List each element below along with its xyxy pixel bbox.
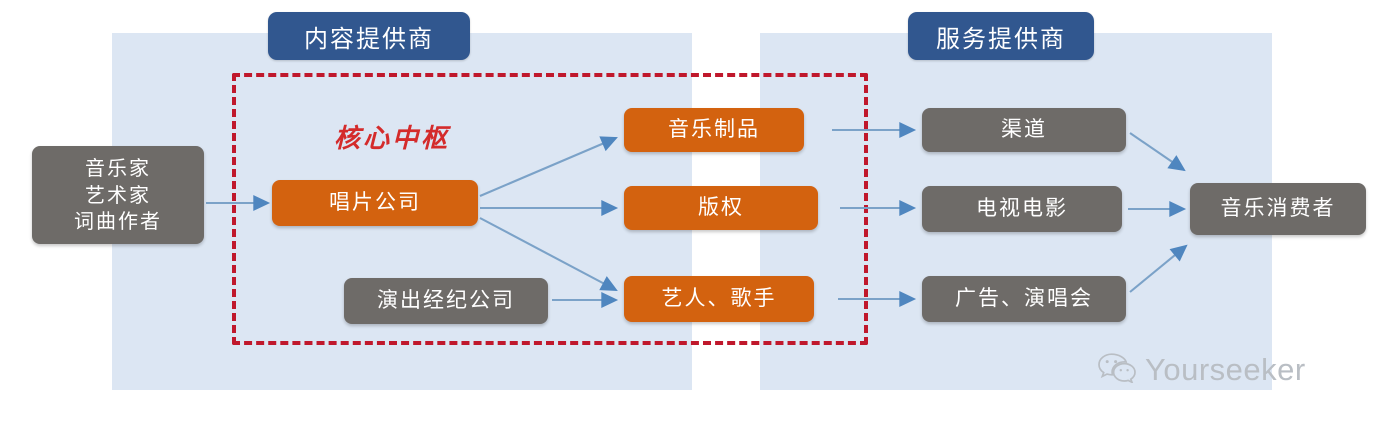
- node-artists-singers: 艺人、歌手: [624, 276, 814, 322]
- node-creators-line-2: 艺术家: [85, 182, 151, 208]
- core-hub-label: 核心中枢: [334, 118, 450, 155]
- node-performance-agency: 演出经纪公司: [344, 278, 548, 324]
- node-music-products: 音乐制品: [624, 108, 804, 152]
- watermark-text: Yourseeker: [1145, 352, 1306, 388]
- node-creators: 音乐家 艺术家 词曲作者: [32, 146, 204, 244]
- node-copyright: 版权: [624, 186, 818, 230]
- node-creators-line-1: 音乐家: [85, 155, 151, 181]
- watermark: Yourseeker: [1098, 352, 1306, 388]
- zone-title-content-provider: 内容提供商: [268, 12, 470, 60]
- zone-title-service-provider: 服务提供商: [908, 12, 1094, 60]
- diagram-canvas: 内容提供商 服务提供商 核心中枢 音乐家 艺术家 词曲作者 唱片公司 演出经纪公…: [0, 0, 1397, 427]
- node-record-label: 唱片公司: [272, 180, 478, 226]
- node-channel: 渠道: [922, 108, 1126, 152]
- node-creators-line-3: 词曲作者: [74, 208, 162, 234]
- node-music-consumers: 音乐消费者: [1190, 183, 1366, 235]
- wechat-icon: [1098, 353, 1136, 388]
- node-tv-film: 电视电影: [922, 186, 1122, 232]
- node-advertising-concerts: 广告、演唱会: [922, 276, 1126, 322]
